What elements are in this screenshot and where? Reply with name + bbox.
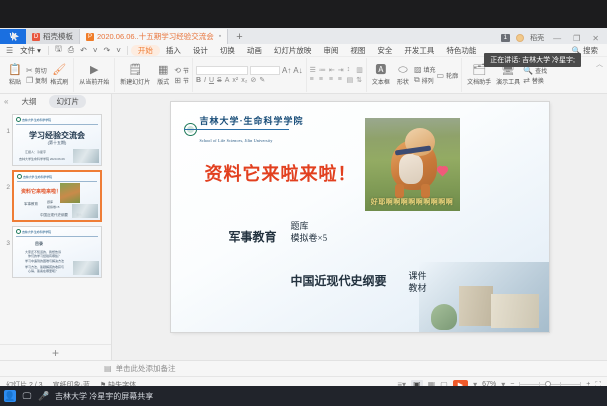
tab-slides[interactable]: 幻灯片: [49, 95, 86, 108]
textbox-icon: 🅰: [375, 65, 386, 76]
thumbnail-list[interactable]: 1 吉林大学·生命科学学院 学习经验交流会 (第十五期) 汇报人：冷星宇 吉林大…: [0, 109, 111, 344]
layout-icon: ▦: [158, 65, 168, 76]
text-courseware[interactable]: 课件: [409, 271, 427, 282]
file-menu-label: 文件: [20, 45, 35, 56]
building-shape-b: [491, 294, 539, 328]
font-family-input[interactable]: [196, 66, 248, 75]
cut-label: 剪切: [35, 66, 47, 75]
building-image: [419, 262, 549, 332]
current-slide[interactable]: 吉林大学·生命科学学院 School of Life Sciences, Jil…: [171, 102, 549, 332]
font-size-input[interactable]: [250, 66, 280, 75]
tab-docer-template[interactable]: D 稻壳模板: [26, 29, 80, 44]
document-tab-strip: W D 稻壳模板 P 2020.06.06..十五期学习经验交流会 ▪ + 1 …: [0, 28, 607, 44]
find-replace-buttons: 🔍 查找 ⇄ 替换: [523, 66, 547, 85]
present-tools-label: 演示工具: [496, 77, 520, 86]
justify-icon[interactable]: ≡: [338, 76, 344, 84]
building-shape-a: [459, 286, 493, 326]
format-painter-button[interactable]: 🖌 格式刷: [48, 64, 70, 87]
tab-design[interactable]: 设计: [187, 45, 214, 56]
section-buttons: ⟲ 节 ⊞ 节: [174, 66, 189, 85]
text-modern-history[interactable]: 中国近现代史纲要: [291, 272, 387, 289]
thumb-building-image: [73, 261, 99, 275]
arrange-label: 排列: [422, 76, 434, 85]
screen-share-status: 吉林大学 冷星宇的屏幕共享: [55, 391, 153, 402]
undo-icon[interactable]: ↶: [77, 46, 90, 55]
file-menu[interactable]: 文件 ▾: [16, 45, 45, 56]
thumb-rule: [16, 124, 98, 125]
collapse-panel-icon[interactable]: «: [4, 97, 8, 106]
desktop-background: [0, 0, 607, 28]
doc-assistant-label: 文档助手: [467, 77, 491, 86]
slide-navigator-panel: « 大纲 幻灯片 1 吉林大学·生命科学学院: [0, 94, 112, 360]
university-seal-icon: [17, 174, 22, 179]
tab-label: 稻壳模板: [43, 31, 73, 42]
mic-icon[interactable]: 🎤: [38, 390, 50, 402]
thumb-title: 资料它来啦来啦！: [21, 188, 61, 195]
paste-label: 粘贴: [9, 77, 21, 86]
decrease-indent-icon[interactable]: ⇤: [329, 66, 335, 74]
notes-placeholder: 单击此处添加备注: [116, 363, 176, 374]
text-shadow-button[interactable]: A: [225, 77, 230, 84]
text-military-education[interactable]: 军事教育: [229, 228, 277, 245]
thumb-line-d: 中国近现代史纲要: [40, 213, 68, 218]
thumb-building-image: [72, 204, 98, 218]
tab-security[interactable]: 安全: [371, 45, 398, 56]
thumb-logo-text: 吉林大学·生命科学学院: [22, 118, 51, 122]
strikethrough-button[interactable]: S: [217, 77, 222, 84]
fill-label: 填充: [424, 65, 436, 74]
university-seal-icon: [16, 117, 21, 122]
paste-button[interactable]: 📋 粘贴: [5, 64, 25, 87]
tab-slideshow[interactable]: 幻灯片放映: [268, 45, 318, 56]
thumb-line-c: 模拟卷×5: [47, 205, 59, 209]
shape-button[interactable]: ⬭ 形状: [393, 64, 413, 87]
tab-special-features[interactable]: 特色功能: [440, 45, 482, 56]
font-row-top: A↑ A↓: [196, 66, 303, 75]
add-slide-button[interactable]: +: [0, 344, 111, 360]
thumb-bullet: 心得，答案在哪里呢？: [28, 269, 58, 274]
thumb-footer-b: 吉林大学生命科学学院 2020.06.06: [19, 157, 65, 161]
thumb-bullet: 你们的学习经验有哪些？: [28, 254, 61, 259]
copy-button[interactable]: ❐ 复制: [26, 76, 47, 85]
from-current-label: 从当前开始: [79, 77, 109, 86]
account-label[interactable]: 稻壳: [530, 33, 544, 43]
dog-leg-shape: [421, 184, 430, 198]
cut-button[interactable]: ✂ 剪切: [26, 66, 47, 75]
speaking-tooltip: 正在讲话: 吉林大学 冷星宇;: [484, 53, 581, 67]
layout-button[interactable]: ▦ 版式: [153, 64, 173, 87]
divider: [48, 46, 49, 55]
increase-indent-icon[interactable]: ⇥: [338, 66, 344, 74]
minimize-button[interactable]: —: [550, 34, 564, 43]
thumb-logo: 吉林大学·生命科学学院: [17, 174, 52, 179]
replace-icon: ⇄: [523, 76, 530, 85]
shape-icon: ⬭: [398, 65, 407, 76]
copy-label: 复制: [35, 76, 47, 85]
tabstrip-right-controls: 1 稻壳 — ❐ ✕: [501, 33, 607, 44]
subscript-button[interactable]: x₂: [241, 77, 247, 84]
clipboard-small-buttons: ✂ 剪切 ❐ 复制: [26, 66, 47, 85]
chevron-down-icon: ▾: [37, 46, 41, 55]
textbox-label: 文本框: [372, 77, 390, 86]
tab-start[interactable]: 开始: [131, 45, 160, 56]
font-row-bottom: B I U S A x² x₂ ⊘ ✎: [196, 76, 303, 84]
line-spacing-icon[interactable]: ↕: [347, 66, 354, 74]
thumbnail-item[interactable]: 1 吉林大学·生命科学学院 学习经验交流会 (第十五期) 汇报人：冷星宇 吉林大…: [0, 112, 111, 168]
new-slide-button[interactable]: 🗒 新建幻灯片: [118, 64, 152, 87]
notification-badge[interactable]: 1: [501, 34, 511, 42]
arrange-button[interactable]: ⧉ 排列: [414, 75, 436, 85]
outline-icon: ▭: [437, 71, 445, 80]
wps-logo[interactable]: W: [0, 29, 26, 44]
reset-button[interactable]: ⟲ 节: [174, 66, 189, 75]
photo-caption: 好耶啊啊啊啊啊啊啊啊啊: [365, 197, 460, 207]
text-mock-papers[interactable]: 模拟卷×5: [291, 233, 328, 244]
drawing-outline-buttons: ▭ 轮廓: [437, 71, 459, 80]
font-color-icon[interactable]: ✎: [259, 76, 265, 84]
thumbnail-item[interactable]: 2 吉林大学·生命科学学院 资料它来啦来啦！ 军事教育 题库 模拟卷×5: [0, 168, 111, 224]
replace-label: 替换: [532, 76, 544, 85]
textbox-button[interactable]: 🅰 文本框: [370, 64, 392, 87]
copy-icon: ❐: [26, 76, 33, 85]
reset-label: 节: [183, 66, 189, 75]
align-right-icon[interactable]: ≡: [329, 76, 335, 84]
tab-insert[interactable]: 插入: [160, 45, 187, 56]
ribbon-group-clipboard: 📋 粘贴 ✂ 剪切 ❐ 复制 🖌 格式刷: [2, 58, 74, 92]
notes-icon: ▤: [104, 364, 112, 373]
fill-button[interactable]: ▨ 填充: [414, 65, 436, 74]
paragraph-buttons: ☰ ≔ ⇤ ⇥ ↕ ▥ ≡ ≡ ≡ ≡ ▤ ⇅: [310, 66, 363, 84]
tree-shape: [431, 304, 457, 330]
university-seal-icon: [16, 229, 21, 234]
dog-photo[interactable]: 好耶啊啊啊啊啊啊啊啊啊: [365, 118, 460, 211]
tab-presentation-document[interactable]: P 2020.06.06..十五期学习经验交流会 ▪: [80, 29, 228, 44]
screen: W D 稻壳模板 P 2020.06.06..十五期学习经验交流会 ▪ + 1 …: [0, 0, 607, 406]
tab-animation[interactable]: 动画: [241, 45, 268, 56]
columns-icon[interactable]: ▥: [356, 66, 363, 74]
print-icon[interactable]: ⎙: [65, 45, 77, 55]
slide-thumbnail-1[interactable]: 吉林大学·生命科学学院 学习经验交流会 (第十五期) 汇报人：冷星宇 吉林大学生…: [12, 114, 102, 166]
decrease-font-size-icon[interactable]: A↓: [293, 66, 302, 75]
thumb-rule: [16, 236, 98, 237]
clear-format-button[interactable]: ⊘: [250, 76, 256, 84]
undo-caret-icon[interactable]: ˅: [90, 46, 101, 55]
slide-navigator-header: « 大纲 幻灯片: [0, 94, 111, 109]
arrange-icon: ⧉: [414, 75, 420, 85]
tab-view[interactable]: 视图: [344, 45, 371, 56]
format-painter-label: 格式刷: [50, 77, 68, 86]
close-icon[interactable]: ▪: [219, 33, 221, 40]
slide-number: 1: [2, 114, 10, 135]
thumb-title: 目录: [35, 241, 43, 247]
divider: [127, 46, 128, 55]
tab-transition[interactable]: 切换: [214, 45, 241, 56]
thumb-rule: [17, 181, 97, 182]
section-label: 节: [183, 76, 189, 85]
os-taskbar: 👤 🖵 🎤 吉林大学 冷星宇的屏幕共享: [0, 386, 607, 406]
text-textbook[interactable]: 教材: [409, 283, 427, 294]
user-icon[interactable]: 👤: [4, 390, 16, 402]
align-center-icon[interactable]: ≡: [319, 76, 326, 84]
zoom-slider[interactable]: [519, 384, 581, 385]
play-circle-icon: ▶: [90, 65, 98, 76]
tab-review[interactable]: 审阅: [317, 45, 344, 56]
thumb-bullet: 学习中遇到的困难与解决方法: [25, 259, 64, 264]
superscript-button[interactable]: x²: [232, 77, 238, 84]
outline-button[interactable]: ▭ 轮廓: [437, 71, 459, 80]
slide-canvas-area[interactable]: 吉林大学·生命科学学院 School of Life Sciences, Jil…: [112, 94, 607, 360]
ribbon-group-paragraph: ☰ ≔ ⇤ ⇥ ↕ ▥ ≡ ≡ ≡ ≡ ▤ ⇅: [307, 58, 367, 92]
new-tab-button[interactable]: +: [228, 30, 250, 44]
layout-label: 版式: [157, 77, 169, 86]
italic-button[interactable]: I: [204, 77, 206, 84]
thumb-building-image: [73, 149, 99, 163]
bold-button[interactable]: B: [196, 77, 201, 84]
shape-label: 形状: [397, 77, 409, 86]
section-button[interactable]: ⊞ 节: [174, 76, 189, 85]
slide-title[interactable]: 资料它来啦来啦！: [205, 160, 357, 186]
outline-label: 轮廓: [446, 71, 458, 80]
redo-caret-icon[interactable]: ˅: [113, 46, 124, 55]
underline-button[interactable]: U: [209, 77, 214, 84]
increase-font-size-icon[interactable]: A↑: [282, 66, 291, 75]
align-left-icon[interactable]: ≡: [310, 76, 316, 84]
thumb-footer-a: 汇报人：冷星宇: [25, 150, 46, 154]
hamburger-icon[interactable]: ☰: [3, 46, 16, 55]
monitor-icon[interactable]: 🖵: [21, 390, 33, 402]
tab-outline[interactable]: 大纲: [14, 95, 43, 108]
close-button[interactable]: ✕: [589, 34, 602, 43]
numbering-icon[interactable]: ≔: [319, 66, 326, 74]
thumbnail-item[interactable]: 3 吉林大学·生命科学学院 目录 大家还不知道的，我想告诉 你们的学习经验有哪些…: [0, 224, 111, 280]
scissors-icon: ✂: [26, 66, 33, 75]
thumb-dog-image: [60, 183, 80, 203]
avatar[interactable]: [516, 34, 524, 42]
slide-logo-rule: [184, 129, 289, 130]
format-painter-icon: 🖌: [52, 65, 66, 76]
font-controls: A↑ A↓ B I U S A x² x₂ ⊘ ✎: [196, 66, 303, 84]
ppt-icon: P: [86, 33, 94, 41]
restore-button[interactable]: ❐: [570, 34, 583, 43]
slide-thumbnail-3[interactable]: 吉林大学·生命科学学院 目录 大家还不知道的，我想告诉 你们的学习经验有哪些？ …: [12, 226, 102, 278]
dog-fur-shape: [399, 154, 423, 184]
collapse-ribbon-icon[interactable]: ︿: [596, 59, 603, 69]
thumb-line-a: 军事教育: [24, 202, 38, 207]
new-slide-label: 新建幻灯片: [120, 77, 150, 86]
editor-body: « 大纲 幻灯片 1 吉林大学·生命科学学院: [0, 94, 607, 360]
ribbon-group-slides: 🗒 新建幻灯片 ▦ 版式 ⟲ 节 ⊞ 节: [115, 58, 193, 92]
drawing-small-buttons: ▨ 填充 ⧉ 排列: [414, 65, 436, 85]
wps-presentation-window: W D 稻壳模板 P 2020.06.06..十五期学习经验交流会 ▪ + 1 …: [0, 28, 607, 386]
text-question-bank[interactable]: 题库: [291, 221, 309, 232]
new-slide-icon: 🗒: [128, 65, 142, 76]
slide-logo-cn: 吉林大学·生命科学学院: [200, 116, 304, 126]
distribute-icon[interactable]: ▤: [347, 76, 354, 84]
thumb-logo: 吉林大学·生命科学学院: [16, 117, 51, 122]
dog-leg-shape: [395, 184, 404, 198]
thumb-line-b: 题库: [47, 200, 53, 204]
text-direction-icon[interactable]: ⇅: [356, 76, 363, 84]
tab-developer-tools[interactable]: 开发工具: [398, 45, 440, 56]
ribbon-group-font: A↑ A↓ B I U S A x² x₂ ⊘ ✎: [193, 58, 307, 92]
thumb-logo-text: 吉林大学·生命科学学院: [23, 175, 52, 179]
slide-logo-en: School of Life Sciences, Jilin Universit…: [200, 138, 273, 143]
search-label: 搜索: [583, 45, 598, 56]
thumb-logo: 吉林大学·生命科学学院: [16, 229, 51, 234]
slide-number: 2: [2, 170, 10, 191]
slide-number: 3: [2, 226, 10, 247]
slide-thumbnail-2[interactable]: 吉林大学·生命科学学院 资料它来啦来啦！ 军事教育 题库 模拟卷×5 中国近现代…: [12, 170, 102, 222]
redo-icon[interactable]: ↷: [101, 46, 114, 55]
docer-icon: D: [32, 33, 40, 41]
replace-button[interactable]: ⇄ 替换: [523, 76, 547, 85]
tab-label: 2020.06.06..十五期学习经验交流会: [97, 31, 214, 42]
thumb-logo-text: 吉林大学·生命科学学院: [22, 230, 51, 234]
heart-icon: [437, 167, 447, 177]
ribbon-toolbar: 📋 粘贴 ✂ 剪切 ❐ 复制 🖌 格式刷: [0, 57, 607, 94]
ribbon-group-present: ▶ 从当前开始: [74, 58, 115, 92]
bullets-icon[interactable]: ☰: [310, 66, 316, 74]
reset-icon: ⟲: [174, 66, 181, 75]
from-current-slide-button[interactable]: ▶ 从当前开始: [77, 64, 111, 87]
thumb-subtitle: (第十五期): [13, 140, 101, 146]
section-icon: ⊞: [174, 76, 181, 85]
notes-pane[interactable]: ▤ 单击此处添加备注: [0, 360, 607, 376]
save-icon[interactable]: 🖫: [52, 43, 65, 57]
paste-icon: 📋: [8, 65, 22, 76]
ribbon-group-drawing: 🅰 文本框 ⬭ 形状 ▨ 填充 ⧉ 排列: [367, 58, 462, 92]
fill-icon: ▨: [414, 65, 422, 74]
